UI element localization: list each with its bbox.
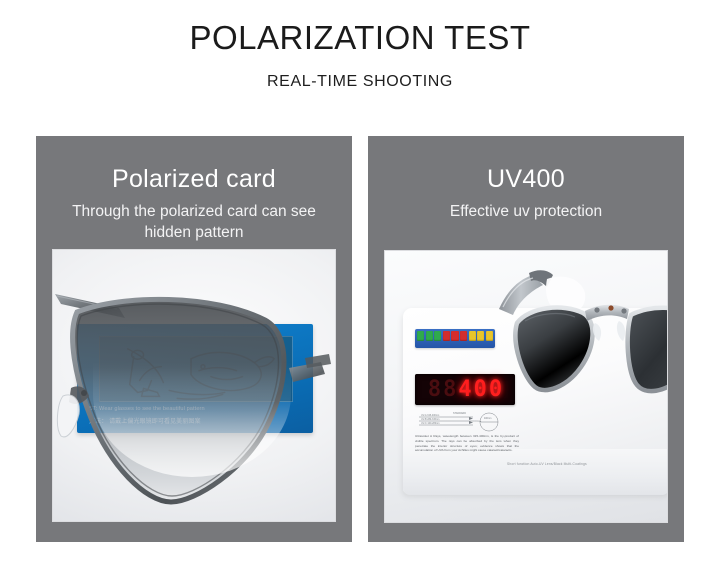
led-indicator (434, 331, 441, 341)
led-indicator (451, 331, 458, 341)
uv-tester-brandprint: Short function Auto-UV Lens/Black Multi-… (507, 462, 587, 466)
led-indicator (460, 331, 467, 341)
display-digit: 4 (458, 379, 471, 401)
page-subtitle: REAL-TIME SHOOTING (0, 73, 720, 91)
svg-text:UV-C 100-280nm: UV-C 100-280nm (421, 422, 439, 425)
led-indicator (469, 331, 476, 341)
aviator-sunglasses-right (485, 263, 668, 413)
header: POLARIZATION TEST REAL-TIME SHOOTING (0, 0, 720, 91)
panel-polarized-card: Polarized card Through the polarized car… (36, 136, 352, 542)
aviator-sunglasses-left (53, 250, 336, 522)
page-title: POLARIZATION TEST (0, 19, 720, 57)
led-indicator (417, 331, 424, 341)
product-photo-uv400: 8 8 4 0 0 UV-A 315-40 (384, 250, 668, 523)
panel-heading-polarized-card: Polarized card (36, 136, 352, 194)
svg-text:UV-A 315-400nm: UV-A 315-400nm (421, 414, 439, 417)
product-photo-polarized-card: ST: Wear glasses to see the beautiful pa… (52, 249, 336, 522)
uv-absorption-diagram: UV-A 315-400nm UV-B 280-315nm UV-C 100-2… (415, 411, 517, 433)
panel-subheading-polarized-card: Through the polarized card can see hidde… (36, 194, 352, 243)
svg-text:400nm: 400nm (484, 417, 491, 420)
led-button-strip (415, 329, 495, 348)
uv-tester-front-lip (403, 449, 668, 495)
led-indicator (426, 331, 433, 341)
display-digit: 8 (443, 379, 456, 401)
led-indicator (443, 331, 450, 341)
panel-subheading-uv400: Effective uv protection (368, 194, 684, 223)
display-digit: 8 (428, 379, 441, 401)
led-indicator (477, 331, 484, 341)
panel-row: Polarized card Through the polarized car… (36, 136, 684, 542)
panel-heading-uv400: UV400 (368, 136, 684, 194)
svg-text:UV-B 280-315nm: UV-B 280-315nm (421, 418, 439, 421)
svg-text:STANDARD: STANDARD (453, 412, 466, 415)
panel-uv400: UV400 Effective uv protection 8 8 (368, 136, 684, 542)
uv-tester-fineprint: Ultraviolet A Rays, wavelength between 3… (415, 434, 519, 453)
